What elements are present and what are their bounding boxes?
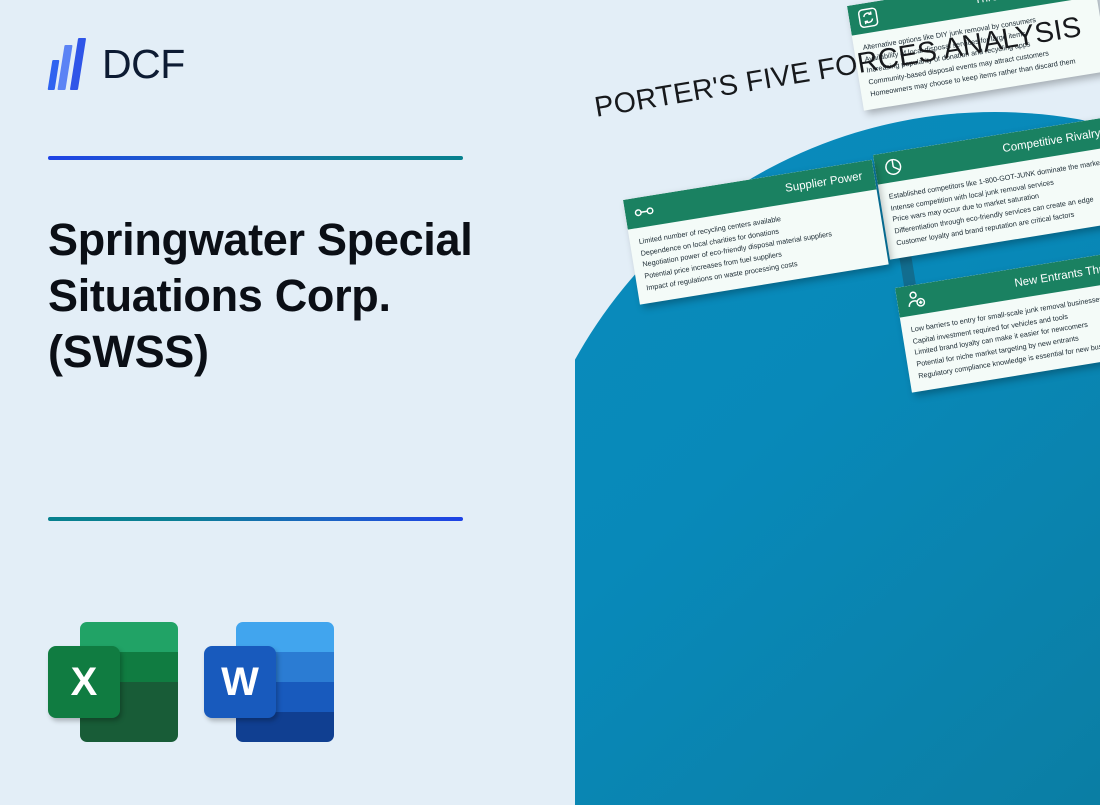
refresh-sync-icon xyxy=(856,5,881,30)
page-title: Springwater Special Situations Corp. (SW… xyxy=(48,212,488,379)
porters-five-forces-graphic: PORTER'S FIVE FORCES ANALYSIS Threat of … xyxy=(575,0,1100,805)
person-add-icon xyxy=(904,287,929,312)
card-title-supplier-power: Supplier Power xyxy=(784,171,863,195)
pie-chart-icon xyxy=(882,154,907,179)
word-badge-letter: W xyxy=(204,646,276,718)
bar-chart-logo-icon xyxy=(48,38,90,90)
card-new-entrants-threat[interactable]: New Entrants Threat Low barriers to entr… xyxy=(895,250,1100,393)
divider-top xyxy=(48,156,463,160)
file-format-icons: X W xyxy=(48,620,336,742)
excel-badge-letter: X xyxy=(48,646,120,718)
force-cards: Threat of Substitution Alternative optio… xyxy=(575,0,1100,805)
divider-bottom xyxy=(48,517,463,521)
card-title-competitive-rivalry: Competitive Rivalry xyxy=(1002,127,1100,155)
left-info-panel: DCF Springwater Special Situations Corp.… xyxy=(0,0,575,805)
card-competitive-rivalry[interactable]: Competitive Rivalry Established competit… xyxy=(873,117,1100,260)
brand-logo-text: DCF xyxy=(102,44,185,85)
link-chain-icon xyxy=(632,199,657,224)
word-file-icon[interactable]: W xyxy=(204,620,336,742)
excel-file-icon[interactable]: X xyxy=(48,620,180,742)
card-title-new-entrants-threat: New Entrants Threat xyxy=(1014,261,1100,290)
brand-logo[interactable]: DCF xyxy=(48,38,185,90)
card-supplier-power[interactable]: Supplier Power Limited number of recycli… xyxy=(623,160,889,305)
